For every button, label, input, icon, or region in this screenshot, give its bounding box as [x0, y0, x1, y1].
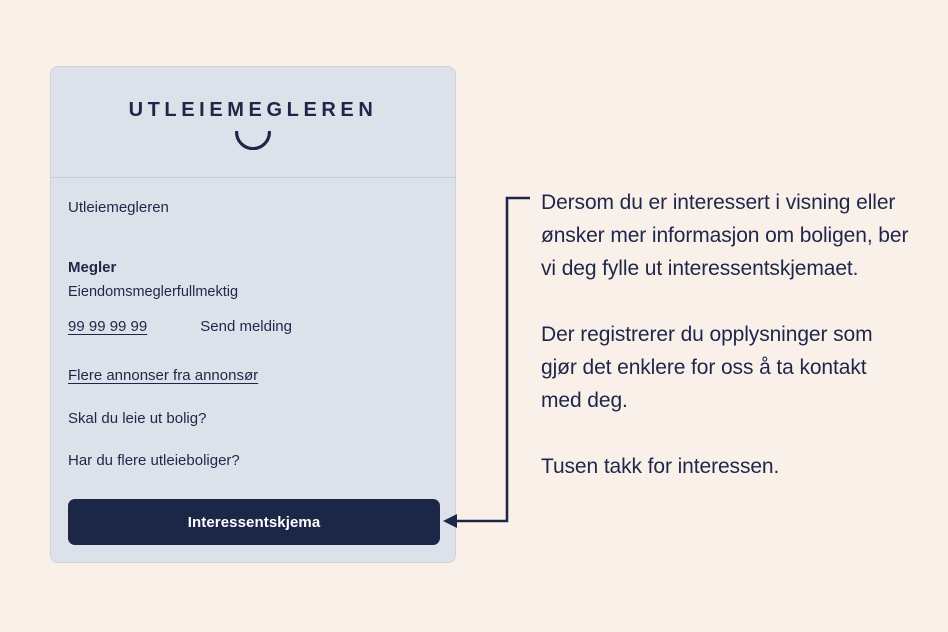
link-more-rental-homes[interactable]: Har du flere utleieboliger? [68, 452, 438, 469]
contact-row: 99 99 99 99 Send melding [68, 318, 438, 335]
annotation-paragraph-2: Der registrerer du opplysninger som gjør… [541, 318, 911, 417]
card-body: Utleiemegleren Megler Eiendomsmeglerfull… [51, 178, 455, 469]
annotation-paragraph-3: Tusen takk for interessen. [541, 450, 911, 483]
broker-job-title: Eiendomsmeglerfullmektig [68, 283, 438, 303]
smile-arc-icon [234, 131, 272, 150]
annotation-text-block: Dersom du er interessert i visning eller… [541, 186, 911, 483]
link-rent-out-home[interactable]: Skal du leie ut bolig? [68, 410, 438, 427]
annotation-paragraph-1: Dersom du er interessert i visning eller… [541, 186, 911, 285]
agency-name: Utleiemegleren [68, 198, 438, 218]
advertiser-links: Flere annonser fra annonsør Skal du leie… [68, 367, 438, 469]
annotation-connector-arrow [435, 185, 545, 535]
interessentskjema-button[interactable]: Interessentskjema [68, 499, 440, 545]
broker-info: Megler Eiendomsmeglerfullmektig [68, 258, 438, 303]
brand-wordmark: UTLEIEMEGLEREN [129, 100, 378, 120]
agent-contact-card: UTLEIEMEGLEREN Utleiemegleren Megler Eie… [50, 66, 456, 563]
broker-role-label: Megler [68, 258, 438, 278]
send-message-link[interactable]: Send melding [200, 318, 292, 335]
link-more-ads-from-advertiser[interactable]: Flere annonser fra annonsør [68, 367, 258, 384]
phone-link[interactable]: 99 99 99 99 [68, 318, 147, 335]
card-header: UTLEIEMEGLEREN [51, 67, 455, 178]
